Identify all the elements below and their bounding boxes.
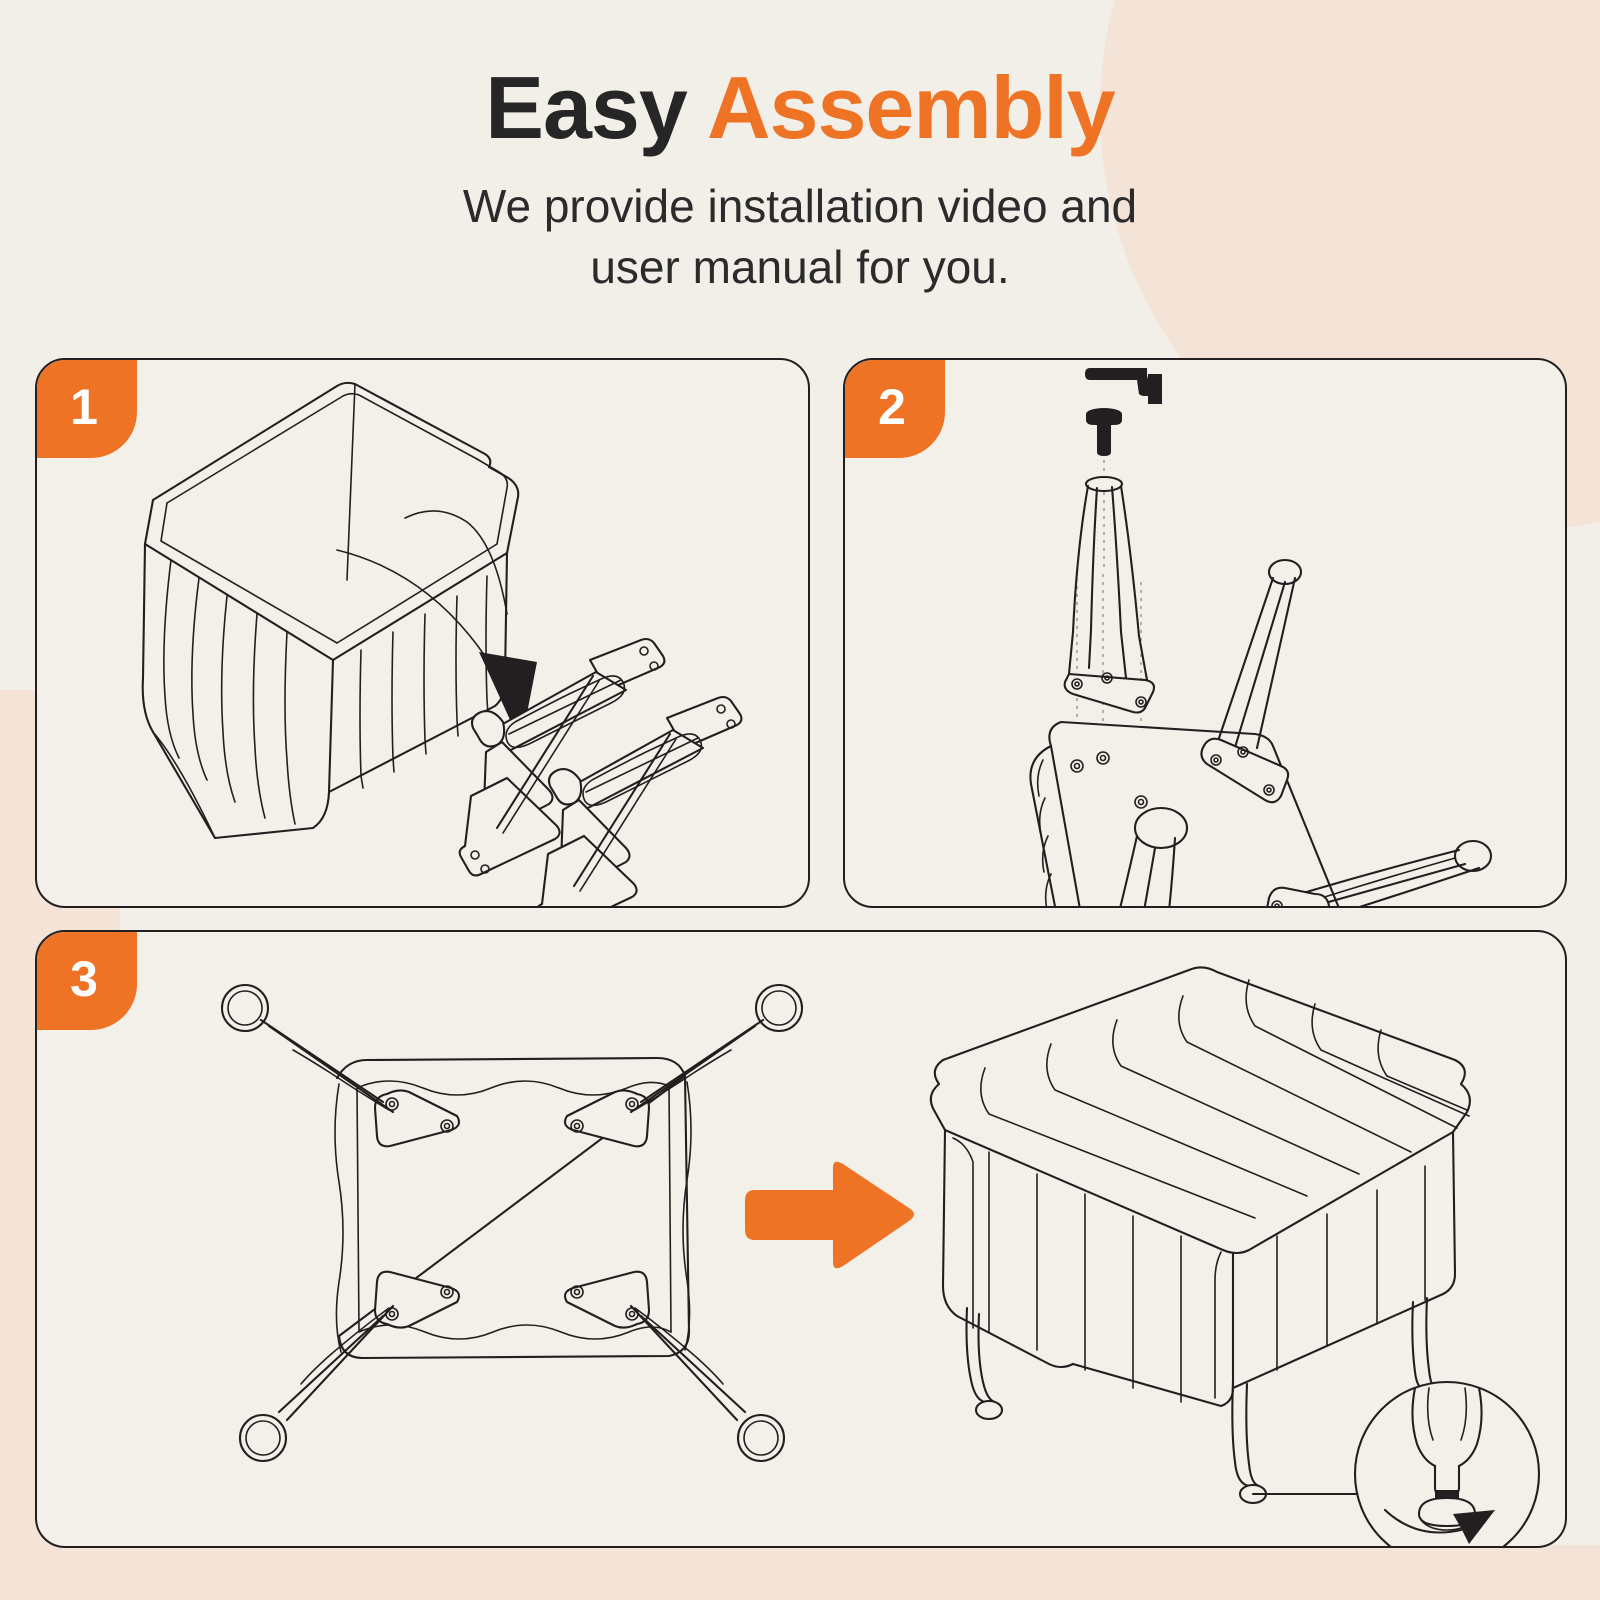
step-3-illustration: [37, 932, 1567, 1548]
page-title: Easy Assembly: [0, 0, 1600, 154]
step-number-2: 2: [878, 378, 906, 436]
finished-ottoman-icon: [931, 967, 1470, 1406]
title-part-assembly: Assembly: [707, 58, 1115, 157]
allen-key-icon: [1085, 368, 1162, 404]
header: Easy Assembly We provide installation vi…: [0, 0, 1600, 298]
subtitle-line-1: We provide installation video and: [463, 180, 1137, 232]
subtitle-line-2: user manual for you.: [590, 241, 1009, 293]
title-part-easy: Easy: [485, 58, 707, 157]
step-number-1: 1: [70, 378, 98, 436]
alignment-guides: [1077, 460, 1141, 766]
step-badge-2: 2: [845, 360, 945, 458]
step-number-3: 3: [70, 950, 98, 1008]
base-panel-icon: [1030, 722, 1367, 908]
ottoman-shell-icon: [143, 383, 519, 838]
step-badge-1: 1: [37, 360, 137, 458]
step-card-2: 2: [843, 358, 1567, 908]
step-1-illustration: [37, 360, 810, 908]
step-card-3: 3: [35, 930, 1567, 1548]
step-2-illustration: [845, 360, 1567, 908]
page-subtitle: We provide installation video and user m…: [0, 154, 1600, 297]
step-card-1: 1: [35, 358, 810, 908]
screw-icon: [1086, 408, 1122, 456]
hairpin-leg-attached-top-right: [1201, 560, 1301, 802]
orange-arrow-icon: [745, 1162, 914, 1269]
hairpin-leg-icon: [1065, 477, 1154, 713]
frame-bottom-icon: [222, 985, 802, 1461]
step-badge-3: 3: [37, 932, 137, 1030]
foot-detail-icon: [1355, 1382, 1539, 1548]
